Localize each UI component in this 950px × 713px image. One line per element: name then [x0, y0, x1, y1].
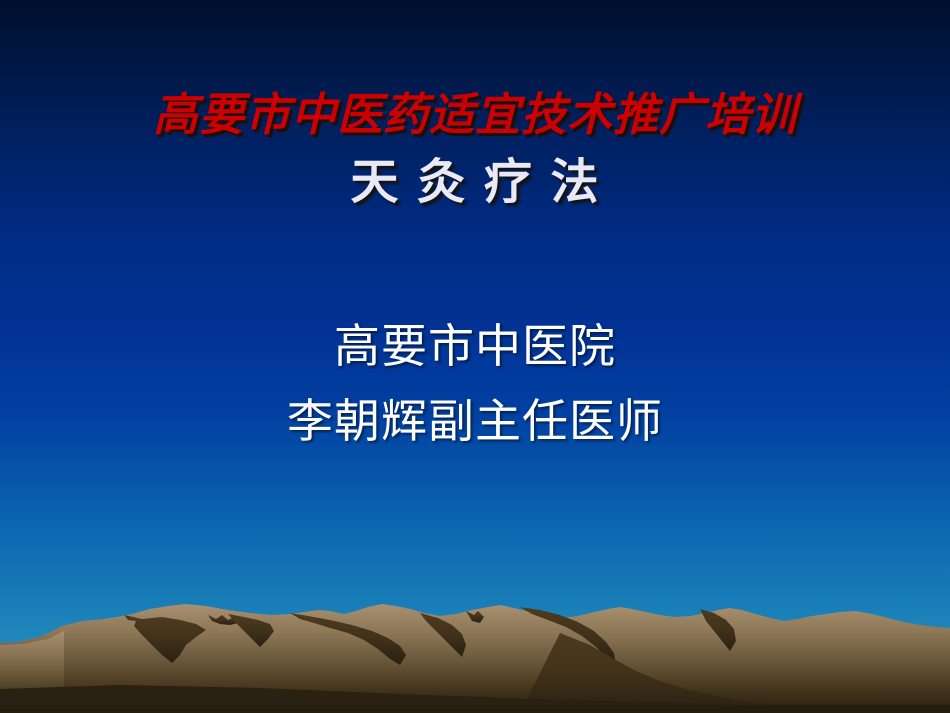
presenter-label: 李朝辉副主任医师: [0, 398, 950, 444]
organization-label: 高要市中医院: [0, 323, 950, 369]
presentation-slide: 高要市中医药适宜技术推广培训 天 灸 疗 法 高要市中医院 李朝辉副主任医师: [0, 0, 950, 713]
page-title-main: 高要市中医药适宜技术推广培训: [0, 92, 950, 137]
page-title-subject: 天 灸 疗 法: [0, 158, 950, 206]
slide-text-layer: 高要市中医药适宜技术推广培训 天 灸 疗 法 高要市中医院 李朝辉副主任医师: [0, 0, 950, 713]
